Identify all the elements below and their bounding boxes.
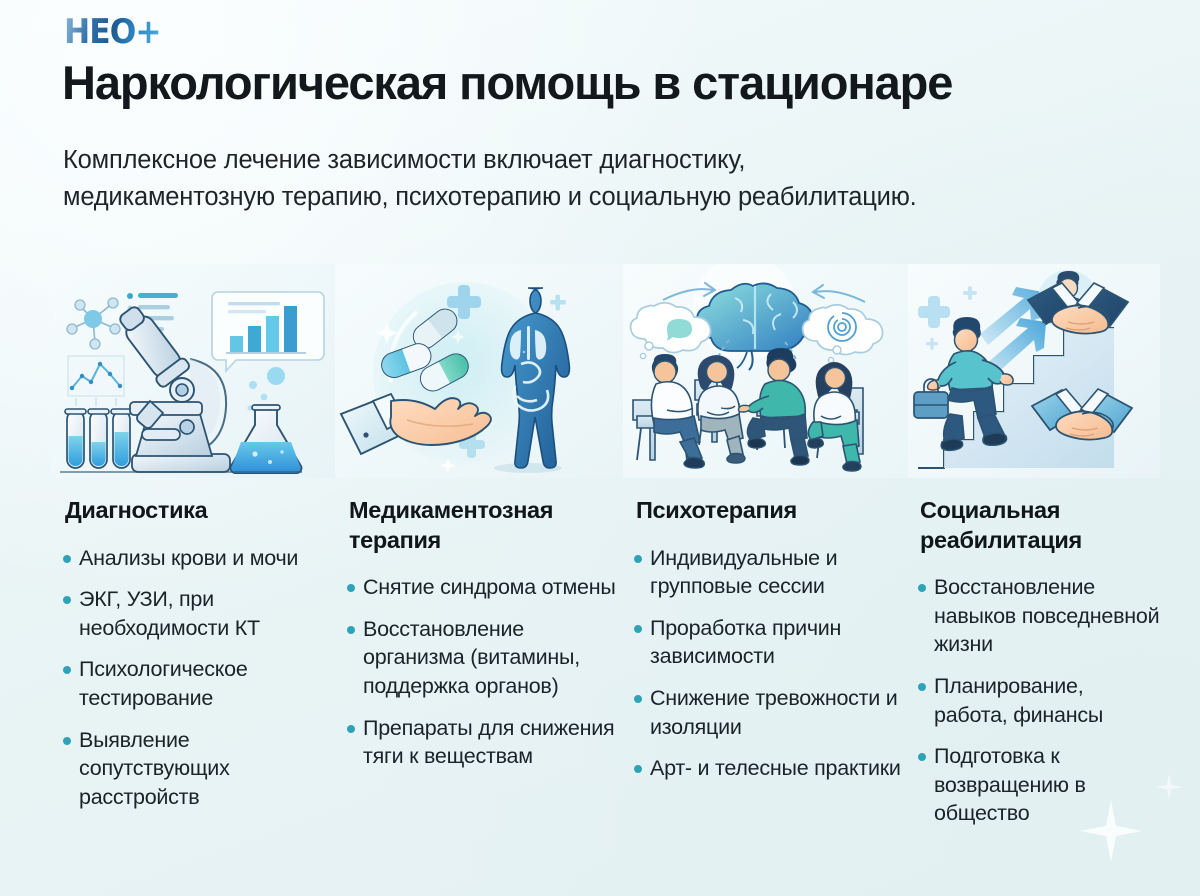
bullet-dot-icon <box>918 753 926 761</box>
medication-hand-body-illustration <box>335 264 623 478</box>
list-item: Восстановление навыков повседневной жизн… <box>908 573 1160 659</box>
list-item: Подготовка к возвращению в общество <box>908 742 1160 828</box>
infographic-page: НЕО+ Наркологическая помощь в стационаре… <box>0 0 1200 896</box>
column-title: Медикаментозная терапия <box>335 496 623 555</box>
bullet-dot-icon <box>347 626 355 634</box>
column-bullet-list: Анализы крови и мочи ЭКГ, УЗИ, при необх… <box>50 544 335 812</box>
list-item-label: Проработка причин зависимости <box>650 616 841 669</box>
bullet-dot-icon <box>918 584 926 592</box>
list-item-label: Восстановление организма (витамины, подд… <box>363 617 580 698</box>
bullet-dot-icon <box>63 666 71 674</box>
bullet-dot-icon <box>63 596 71 604</box>
list-item-label: ЭКГ, УЗИ, при необходимости КТ <box>79 587 260 640</box>
list-item: Планирование, работа, финансы <box>908 672 1160 729</box>
column-medication-therapy: Медикаментозная терапия Снятие синдрома … <box>335 264 623 841</box>
column-bullet-list: Индивидуальные и групповые сессии Прораб… <box>623 544 908 783</box>
group-therapy-brain-illustration <box>623 264 908 478</box>
bullet-dot-icon <box>634 695 642 703</box>
list-item: Снижение тревожности и изоляции <box>623 684 908 741</box>
column-title: Диагностика <box>50 496 335 526</box>
column-bullet-list: Снятие синдрома отмены Восстановление ор… <box>335 573 623 771</box>
list-item: Индивидуальные и групповые сессии <box>623 544 908 601</box>
list-item: Снятие синдрома отмены <box>335 573 623 602</box>
list-item-label: Индивидуальные и групповые сессии <box>650 546 837 599</box>
column-title: Психотерапия <box>623 496 908 526</box>
list-item: Проработка причин зависимости <box>623 614 908 671</box>
bullet-dot-icon <box>63 737 71 745</box>
bar-chart-bubble-icon <box>212 292 324 371</box>
column-title: Социальная реабилитация <box>908 496 1160 555</box>
list-item-label: Снятие синдрома отмены <box>363 575 616 599</box>
line-chart-icon <box>68 356 124 406</box>
bullet-dot-icon <box>63 555 71 563</box>
bullet-dot-icon <box>634 765 642 773</box>
brand-logo: НЕО+ <box>64 12 169 52</box>
columns-container: Диагностика Анализы крови и мочи ЭКГ, УЗ… <box>50 264 1160 841</box>
bullet-dot-icon <box>918 683 926 691</box>
column-bullet-list: Восстановление навыков повседневной жизн… <box>908 573 1160 828</box>
column-diagnostics: Диагностика Анализы крови и мочи ЭКГ, УЗ… <box>50 264 335 841</box>
neo-plus-logomark-icon: НЕО+ <box>64 15 161 49</box>
laboratory-microscope-illustration <box>50 264 335 478</box>
list-item: Психологическое тестирование <box>50 655 335 712</box>
list-item: Анализы крови и мочи <box>50 544 335 573</box>
list-item-label: Подготовка к возвращению в общество <box>934 744 1086 825</box>
list-item-label: Выявление сопутствующих расстройств <box>79 728 230 809</box>
list-item-label: Арт- и телесные практики <box>650 756 901 780</box>
list-item-label: Психологическое тестирование <box>79 657 248 710</box>
bullet-dot-icon <box>634 555 642 563</box>
list-item-label: Планирование, работа, финансы <box>934 674 1103 727</box>
list-item-label: Восстановление навыков повседневной жизн… <box>934 575 1159 656</box>
career-stairs-handshake-illustration <box>908 264 1160 478</box>
test-tubes-icon <box>65 409 132 468</box>
column-social-rehabilitation: Социальная реабилитация Восстановление н… <box>908 264 1160 841</box>
column-psychotherapy: Психотерапия Индивидуальные и групповые … <box>623 264 908 841</box>
list-item: Арт- и телесные практики <box>623 754 908 783</box>
bullet-dot-icon <box>347 725 355 733</box>
list-item-label: Препараты для снижения тяги к веществам <box>363 716 614 769</box>
bullet-dot-icon <box>634 625 642 633</box>
list-item-label: Снижение тревожности и изоляции <box>650 686 898 739</box>
page-subtitle: Комплексное лечение зависимости включает… <box>63 142 953 217</box>
bullet-dot-icon <box>347 584 355 592</box>
page-title: Наркологическая помощь в стационаре <box>62 58 1152 109</box>
list-item: Препараты для снижения тяги к веществам <box>335 714 623 771</box>
list-item: Восстановление организма (витамины, подд… <box>335 615 623 701</box>
list-item: Выявление сопутствующих расстройств <box>50 726 335 812</box>
list-item: ЭКГ, УЗИ, при необходимости КТ <box>50 585 335 642</box>
list-item-label: Анализы крови и мочи <box>79 546 298 570</box>
